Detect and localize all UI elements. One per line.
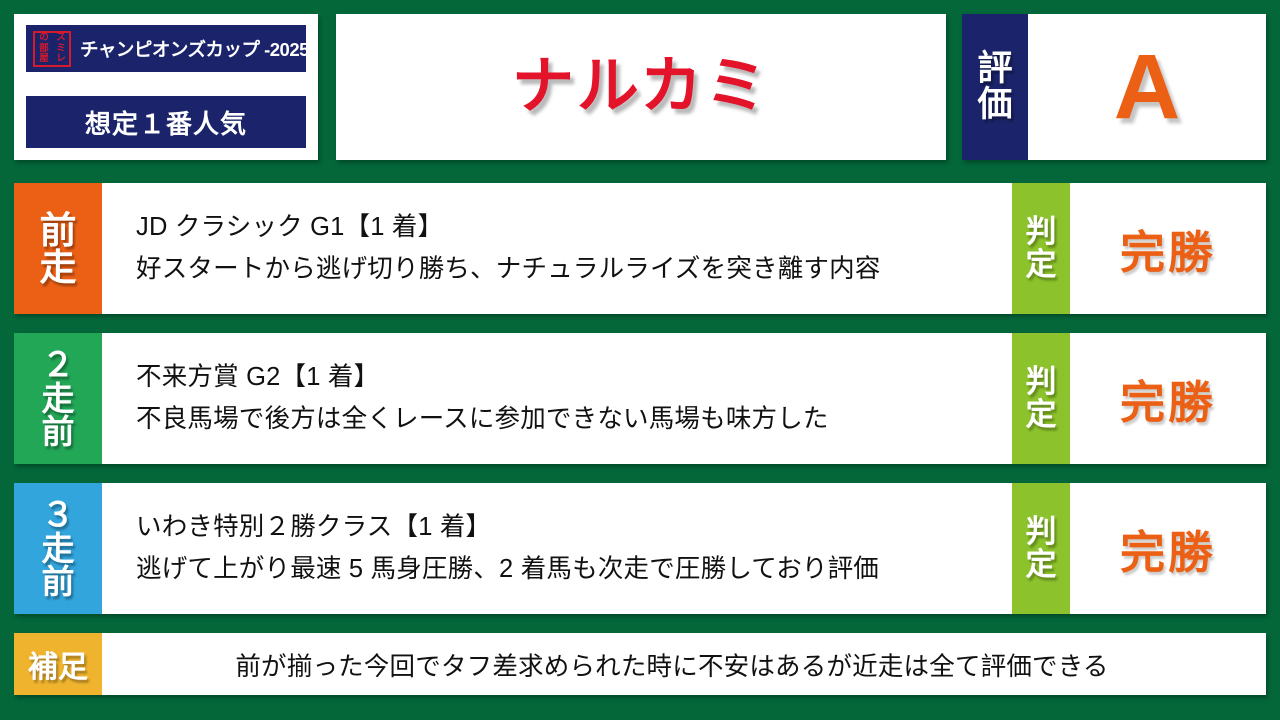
stamp-char-4: ス <box>52 33 69 44</box>
rating-label-char-2: 価 <box>977 87 1012 123</box>
run-tag-line: 前 <box>42 565 75 599</box>
run-tag-line: ３ <box>42 498 75 532</box>
stamp-char-3: 屋 <box>35 54 52 65</box>
run-tag-line: 走 <box>42 382 75 416</box>
stamp-char-5: ミ <box>52 43 69 54</box>
verdict-label: 判 定 <box>1012 183 1070 314</box>
verdict-label-char-1: 判 <box>1026 516 1057 549</box>
run-body: JD クラシック G1【1 着】 好スタートから逃げ切り勝ち、ナチュラルライズを… <box>102 183 1012 314</box>
stamp-char-2: 部 <box>35 43 52 54</box>
verdict-value: 完勝 <box>1070 333 1266 464</box>
verdict-label-char-2: 定 <box>1026 399 1057 432</box>
verdict-label-char-1: 判 <box>1026 366 1057 399</box>
run-body: 不来方賞 G2【1 着】 不良馬場で後方は全くレースに参加できない馬場も味方した <box>102 333 1012 464</box>
brand-inner: の 部 屋 ス ミ レ チャンピオンズカップ -2025- 想定１番人気 <box>14 14 318 160</box>
run-comment: 好スタートから逃げ切り勝ち、ナチュラルライズを突き離す内容 <box>136 249 1002 290</box>
sumire-stamp-icon: の 部 屋 ス ミ レ <box>33 31 71 67</box>
run-comment: 不良馬場で後方は全くレースに参加できない馬場も味方した <box>136 399 1002 440</box>
stamp-char-1: の <box>35 33 52 44</box>
run-row: ３ 走 前 いわき特別２勝クラス【1 着】 逃げて上がり最速 5 馬身圧勝、2 … <box>14 483 1266 614</box>
note-text: 前が揃った今回でタフ差求められた時に不安はあるが近走は全て評価できる <box>102 633 1266 695</box>
rating-label: 評 価 <box>962 14 1028 160</box>
popularity-badge: 想定１番人気 <box>26 96 306 148</box>
brand-card: の 部 屋 ス ミ レ チャンピオンズカップ -2025- 想定１番人気 <box>14 14 318 160</box>
run-tag-line: 走 <box>42 532 75 566</box>
note-row: 補足 前が揃った今回でタフ差求められた時に不安はあるが近走は全て評価できる <box>14 633 1266 695</box>
verdict-value: 完勝 <box>1070 183 1266 314</box>
horse-name-card: ナルカミ <box>336 14 946 160</box>
stamp-char-6: レ <box>52 54 69 65</box>
run-race-name: JD クラシック G1【1 着】 <box>136 207 1002 248</box>
verdict-label: 判 定 <box>1012 333 1070 464</box>
run-race-name: 不来方賞 G2【1 着】 <box>136 357 1002 398</box>
verdict-label-char-1: 判 <box>1026 216 1057 249</box>
run-tag-three-back: ３ 走 前 <box>14 483 102 614</box>
brand-title-bar: の 部 屋 ス ミ レ チャンピオンズカップ -2025- <box>26 25 306 72</box>
verdict-label: 判 定 <box>1012 483 1070 614</box>
rating-label-char-1: 評 <box>977 51 1012 87</box>
run-tag-previous: 前 走 <box>14 183 102 314</box>
run-row: ２ 走 前 不来方賞 G2【1 着】 不良馬場で後方は全くレースに参加できない馬… <box>14 333 1266 464</box>
run-tag-line: ２ <box>42 348 75 382</box>
horse-name: ナルカミ <box>512 56 770 118</box>
run-race-name: いわき特別２勝クラス【1 着】 <box>136 507 1002 548</box>
event-title: チャンピオンズカップ -2025- <box>80 36 315 62</box>
verdict-label-char-2: 定 <box>1026 249 1057 282</box>
note-tag: 補足 <box>14 633 102 695</box>
run-tag-two-back: ２ 走 前 <box>14 333 102 464</box>
rating-card: 評 価 A <box>962 14 1266 160</box>
run-row: 前 走 JD クラシック G1【1 着】 好スタートから逃げ切り勝ち、ナチュラル… <box>14 183 1266 314</box>
rating-grade: A <box>1028 14 1266 160</box>
poster-canvas: の 部 屋 ス ミ レ チャンピオンズカップ -2025- 想定１番人気 ナルカ… <box>0 0 1280 720</box>
verdict-value: 完勝 <box>1070 483 1266 614</box>
run-comment: 逃げて上がり最速 5 馬身圧勝、2 着馬も次走で圧勝しており評価 <box>136 549 1002 590</box>
run-tag-line: 走 <box>40 249 77 286</box>
run-tag-line: 前 <box>42 415 75 449</box>
run-body: いわき特別２勝クラス【1 着】 逃げて上がり最速 5 馬身圧勝、2 着馬も次走で… <box>102 483 1012 614</box>
run-tag-line: 前 <box>40 212 77 249</box>
verdict-label-char-2: 定 <box>1026 549 1057 582</box>
